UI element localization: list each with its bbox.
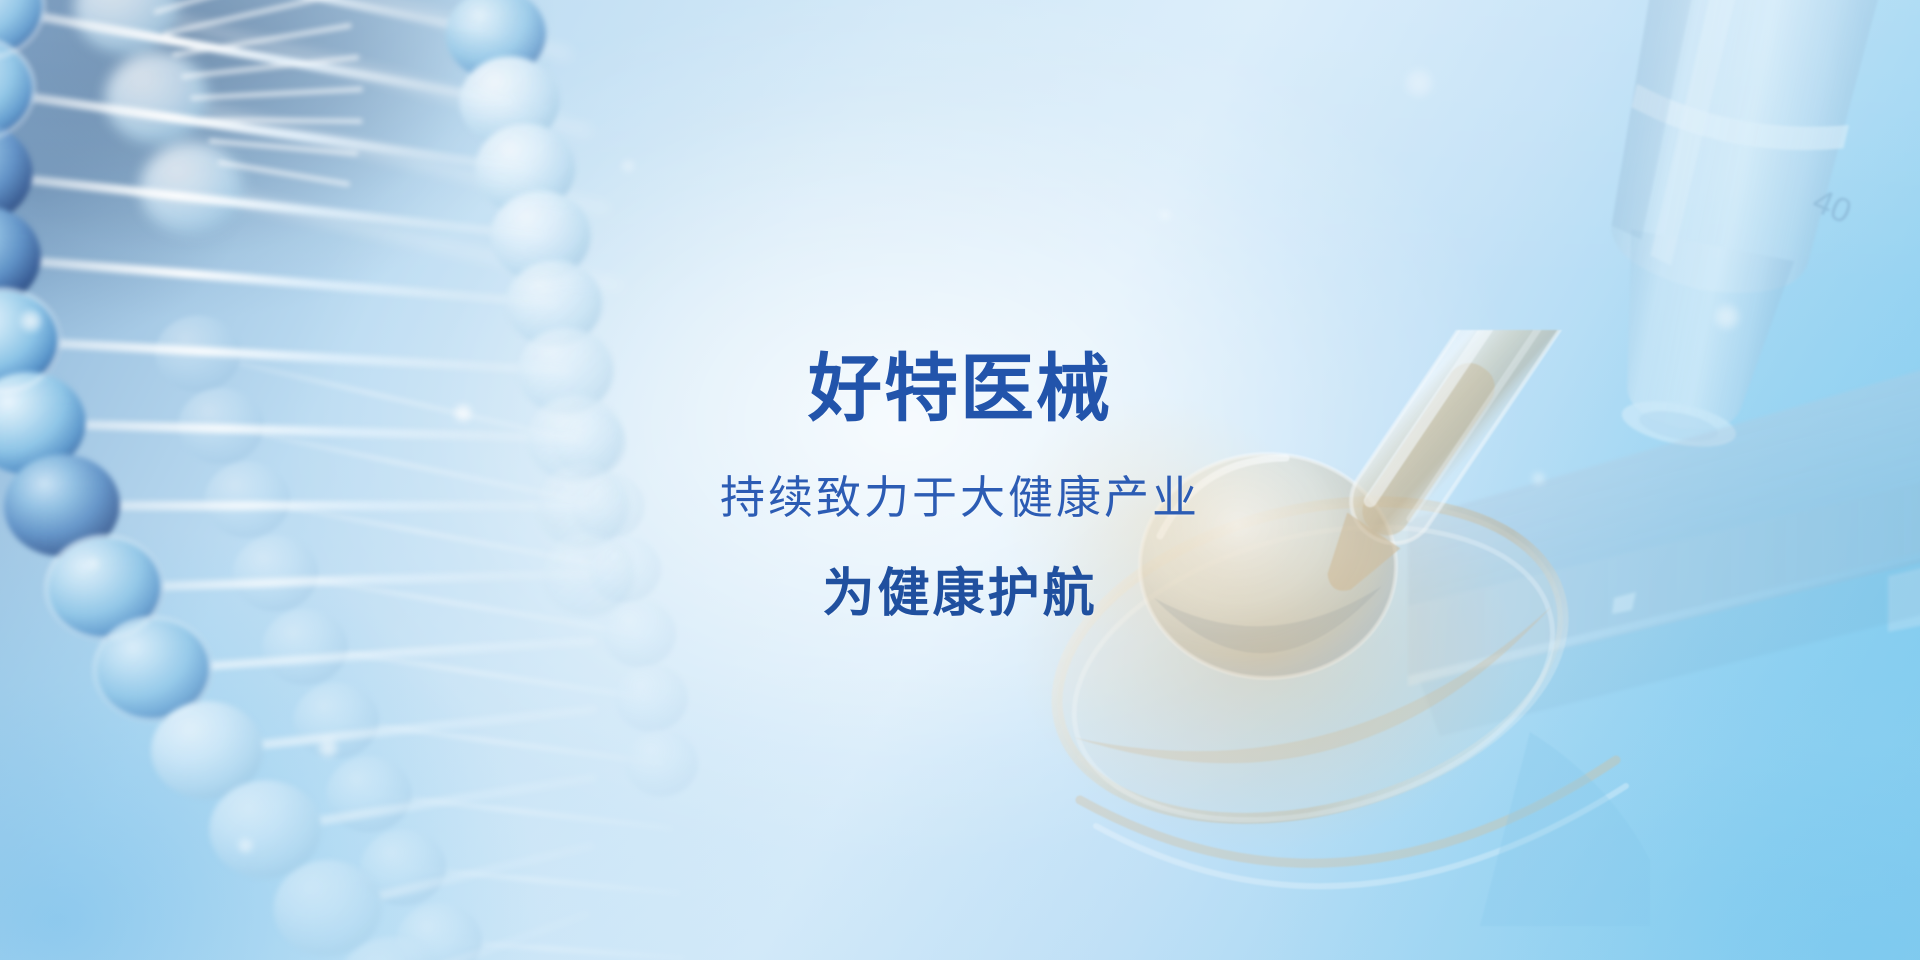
banner-title: 好特医械 — [0, 352, 1920, 426]
hero-banner: 40 — [0, 0, 1920, 960]
banner-tagline: 为健康护航 — [0, 520, 1920, 620]
banner-copy: 好特医械 持续致力于大健康产业 为健康护航 — [0, 352, 1920, 620]
bokeh-speck — [1158, 208, 1172, 222]
bokeh-speck — [1402, 66, 1436, 100]
banner-subtitle: 持续致力于大健康产业 — [0, 426, 1920, 520]
